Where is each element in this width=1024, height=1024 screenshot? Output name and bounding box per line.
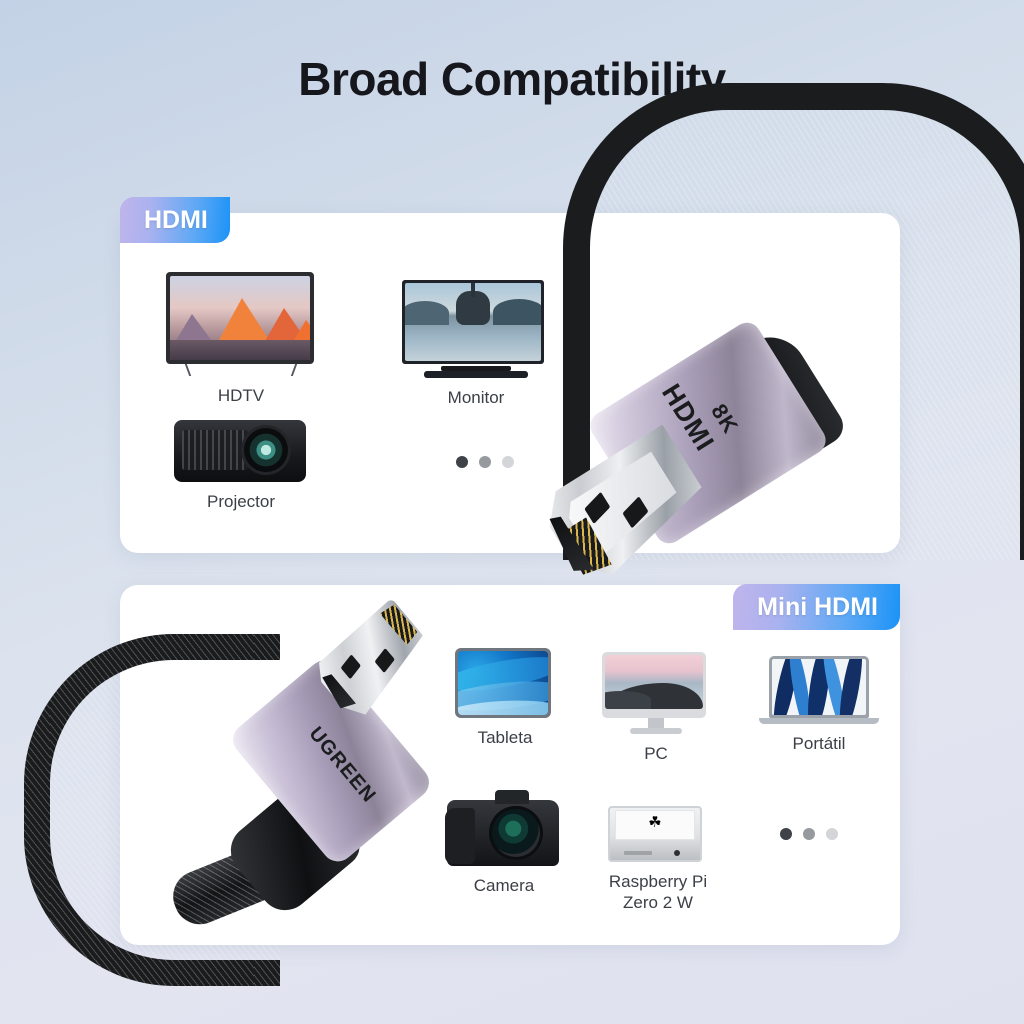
device-label-raspberry-pi: Raspberry Pi Zero 2 W [583, 871, 733, 914]
more-dot-3 [826, 828, 838, 840]
hdmi-badge-label: HDMI [144, 206, 208, 235]
more-dot-2 [803, 828, 815, 840]
device-tile-monitor: Monitor [402, 280, 550, 408]
ugreen-brand-text: UGREEN [304, 723, 380, 808]
device-tile-hdtv: HDTV [166, 272, 316, 406]
tablet-icon [455, 648, 555, 718]
mini-hdmi-badge: Mini HDMI [733, 584, 900, 630]
device-label-hdtv: HDTV [166, 385, 316, 406]
more-dot-2 [479, 456, 491, 468]
monitor-icon [402, 280, 550, 378]
device-tile-projector: Projector [174, 420, 308, 512]
device-label-portatil: Portátil [759, 733, 879, 754]
more-dot-1 [780, 828, 792, 840]
device-tile-raspberry-pi: ☘ Raspberry Pi Zero 2 W [608, 806, 708, 914]
hdmi-badge: HDMI [120, 197, 230, 243]
device-label-tableta: Tableta [455, 727, 555, 748]
device-tile-camera: Camera [447, 800, 561, 896]
hdmi-braided-cable [590, 110, 974, 354]
device-tile-portatil: Portátil [759, 656, 879, 754]
mini-hdmi-more-indicator[interactable] [780, 828, 838, 840]
mini-hdmi-badge-label: Mini HDMI [757, 593, 878, 622]
device-label-camera: Camera [447, 875, 561, 896]
device-tile-pc: PC [602, 652, 710, 764]
mini-hdmi-braided-cable [24, 634, 280, 986]
projector-icon [174, 420, 308, 482]
device-label-pc: PC [602, 743, 710, 764]
laptop-icon [759, 656, 879, 724]
more-dot-3 [502, 456, 514, 468]
mini-hdmi-connector-photo: UGREEN [20, 610, 440, 950]
hdtv-icon [166, 272, 316, 376]
product-infographic: Broad Compatibility HDMI HDTV [0, 0, 1024, 1024]
hdmi-connector-photo: HDMI 8K [590, 110, 1020, 560]
desktop-pc-icon [602, 652, 710, 734]
raspberry-logo-icon: ☘ [648, 815, 661, 830]
device-label-monitor: Monitor [402, 387, 550, 408]
device-tile-tableta: Tableta [455, 648, 555, 748]
more-dot-1 [456, 456, 468, 468]
camera-icon [447, 800, 561, 866]
raspberry-pi-icon: ☘ [608, 806, 708, 862]
hdmi-more-indicator[interactable] [456, 456, 514, 468]
device-label-projector: Projector [174, 491, 308, 512]
